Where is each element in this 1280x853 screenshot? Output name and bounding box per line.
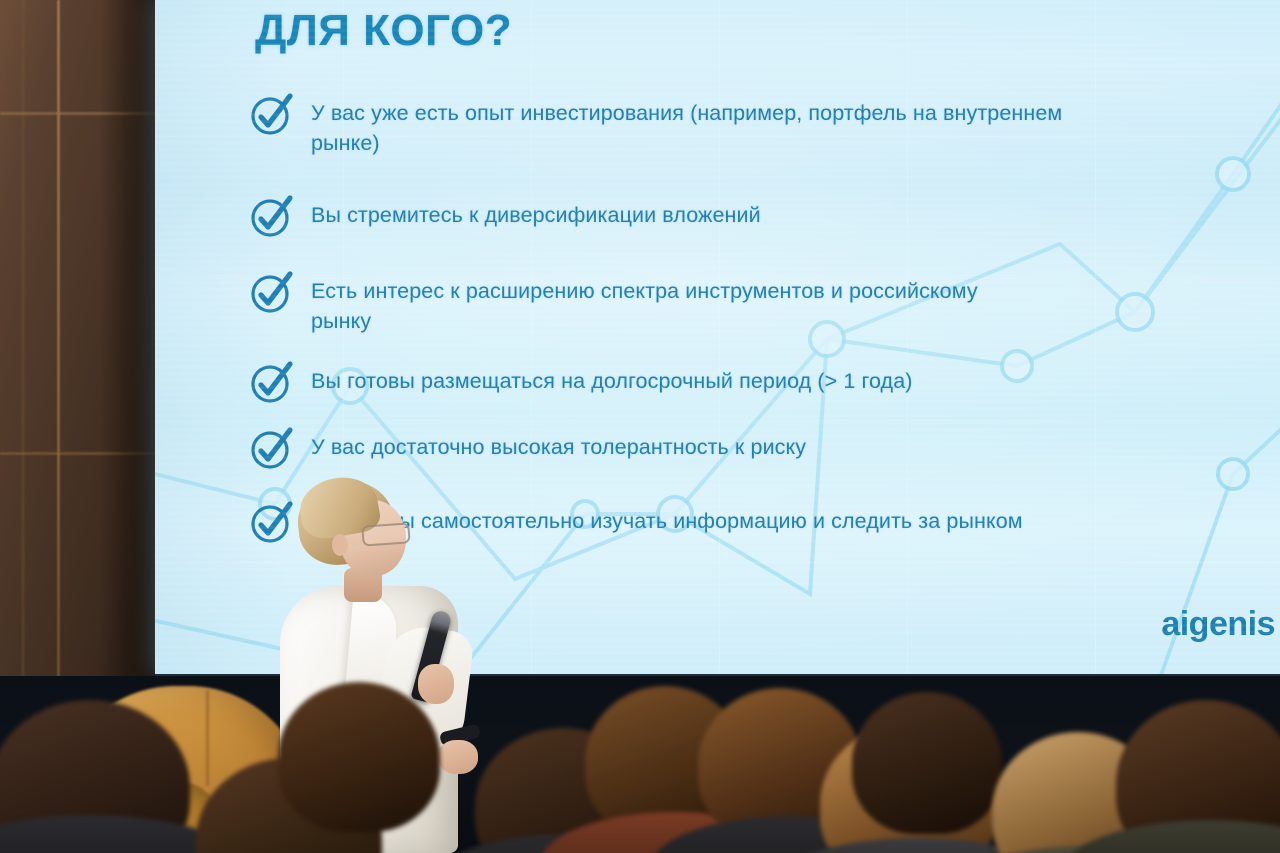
list-item: Есть интерес к расширению спектра инстру…	[249, 276, 1011, 336]
presenter-glasses	[361, 522, 410, 546]
list-item-label: Вы стремитесь к диверсификации вложений	[311, 200, 761, 230]
list-item: У вас уже есть опыт инвестирования (напр…	[249, 98, 1111, 158]
conference-photo-scene: ДЛЯ КОГО? У вас уже есть опыт инвестиров…	[0, 0, 1280, 853]
check-circle-icon	[249, 426, 295, 470]
list-item: Вы готовы размещаться на долгосрочный пе…	[249, 366, 913, 410]
wall-shadow	[100, 0, 160, 700]
presenter-hand	[418, 664, 454, 704]
wall-seam	[57, 0, 60, 700]
audience-head	[852, 692, 1002, 834]
presenter-hand	[438, 740, 478, 774]
check-circle-icon	[249, 270, 295, 314]
check-circle-icon	[249, 92, 295, 136]
brand-logo: aigenis	[1161, 605, 1275, 644]
presenter-ear	[332, 534, 348, 556]
check-circle-icon	[249, 360, 295, 404]
list-item-label: Есть интерес к расширению спектра инстру…	[311, 276, 1011, 336]
list-item-label: Вы готовы размещаться на долгосрочный пе…	[311, 366, 913, 396]
audience-head	[278, 682, 440, 832]
wall-seam	[22, 0, 24, 700]
check-circle-icon	[249, 194, 295, 238]
list-item-label: У вас уже есть опыт инвестирования (напр…	[311, 98, 1111, 158]
list-item-label: У вас достаточно высокая толерантность к…	[311, 432, 806, 462]
page-title: ДЛЯ КОГО?	[255, 6, 512, 56]
armchair-seam	[206, 690, 209, 786]
list-item: Вы стремитесь к диверсификации вложений	[249, 200, 761, 244]
